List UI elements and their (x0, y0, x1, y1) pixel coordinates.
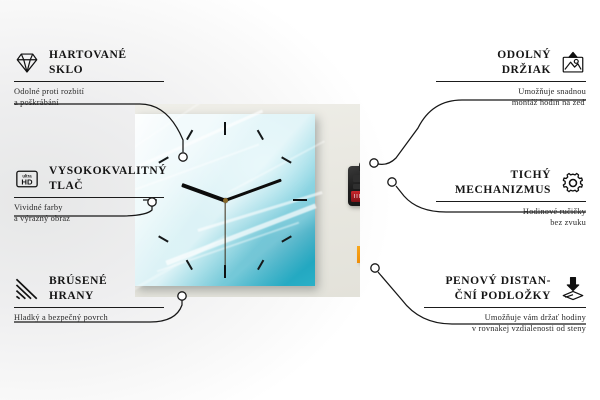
divider (14, 81, 164, 82)
callout-dot-mechanism (388, 178, 396, 186)
foam-spacer-icon (560, 276, 586, 302)
callout-dot-glass-surface (179, 153, 187, 161)
feature-silent-mechanism: TICHÝ MECHANIZMUS Hodinové ručičky bez z… (436, 168, 586, 228)
callout-dot-foam (371, 264, 379, 272)
feature-description: Vividné farby a výrazný obraz (14, 202, 164, 224)
callout-dot-edge (178, 292, 186, 300)
feature-title: ODOLNÝ DRŽIAK (497, 48, 551, 77)
divider (436, 81, 586, 82)
feature-description: Hladký a bezpečný povrch (14, 312, 164, 323)
callout-dot-wall-mount (370, 159, 378, 167)
feature-title: TICHÝ MECHANIZMUS (455, 168, 551, 197)
divider (14, 197, 164, 198)
feature-hardened-glass: HARTOVANÉ SKLO Odolné proti rozbití a po… (14, 48, 164, 108)
feature-title: PENOVÝ DISTAN- ČNÍ PODLOŽKY (445, 274, 551, 303)
diamond-icon (14, 50, 40, 76)
feature-description: Odolné proti rozbití a poškrábání (14, 86, 164, 108)
feature-description: Umožňuje vám držať hodiny v rovnakej vzd… (424, 312, 586, 334)
divider (436, 201, 586, 202)
picture-hanger-icon (560, 50, 586, 76)
infographic-canvas: HARTOVANÉ SKLO Odolné proti rozbití a po… (0, 0, 600, 400)
divider (424, 307, 586, 308)
gear-icon (560, 170, 586, 196)
divider (14, 307, 164, 308)
feature-title: BRÚSENÉ HRANY (49, 274, 107, 303)
feature-durable-hanger: ODOLNÝ DRŽIAK Umožňuje snadnou montáž ho… (436, 48, 586, 108)
feature-description: Umožňuje snadnou montáž hodin na zeď (436, 86, 586, 108)
feature-title: VYSOKOKVALITNÝ TLAČ (49, 164, 167, 193)
ultra-hd-badge-icon: ultra HD (14, 166, 40, 192)
feature-hq-print: ultra HD VYSOKOKVALITNÝ TLAČ Vividné far… (14, 164, 164, 224)
ground-edges-icon (14, 276, 40, 302)
feature-description: Hodinové ručičky bez zvuku (436, 206, 586, 228)
feature-title: HARTOVANÉ SKLO (49, 48, 127, 77)
svg-text:HD: HD (21, 177, 33, 186)
feature-foam-spacers: PENOVÝ DISTAN- ČNÍ PODLOŽKY Umožňuje vám… (424, 274, 586, 334)
feature-ground-edges: BRÚSENÉ HRANY Hladký a bezpečný povrch (14, 274, 164, 323)
